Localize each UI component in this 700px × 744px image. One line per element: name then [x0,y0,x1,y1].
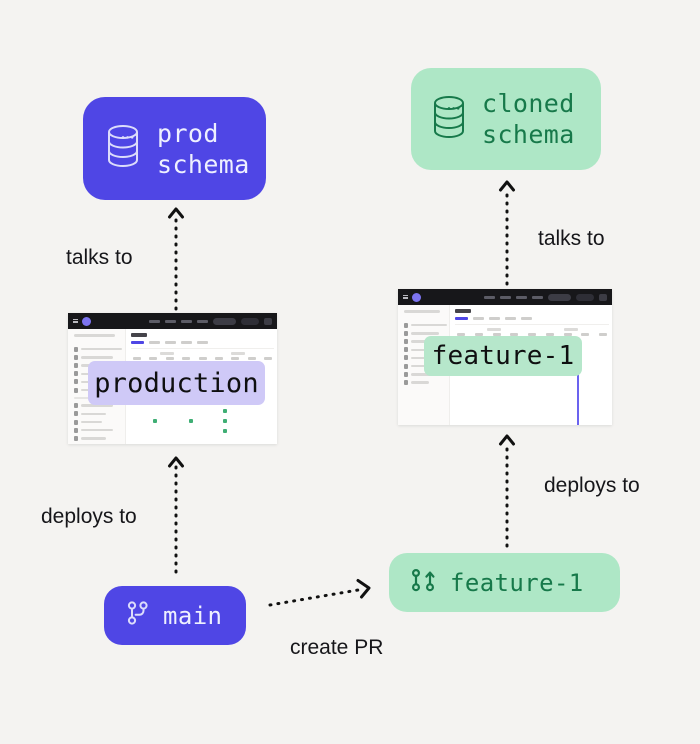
app-logo-icon [412,293,421,302]
production-tag-label: production [94,368,259,399]
git-pull-request-icon [411,567,436,598]
mockup-env-pill [548,294,571,301]
node-prod-schema[interactable]: prod schema [83,97,266,200]
mockup-avatar [599,294,607,301]
arrow-deploys-to-right [497,430,517,548]
node-main-branch-label: main [163,602,222,630]
edge-label-talks-to-right: talks to [538,227,605,251]
production-tag: production [88,361,265,405]
mockup-page-title [455,309,471,313]
node-feature-branch-label: feature-1 [450,569,584,597]
node-prod-schema-label: prod schema [157,118,250,180]
mockup-topnav [484,294,607,301]
hamburger-icon [73,319,78,323]
arrow-talks-to-left [166,203,186,311]
arrow-create-pr [268,578,378,612]
edge-label-deploys-to-right: deploys to [544,474,640,498]
arrow-talks-to-right [497,176,517,286]
hamburger-icon [403,295,408,299]
database-icon [429,94,469,145]
git-branch-icon [126,600,150,631]
feature-tag-label: feature-1 [432,341,575,371]
mockup-env-pill [213,318,236,325]
node-cloned-schema[interactable]: cloned schema [411,68,601,170]
mockup-user-pill [241,318,259,325]
mockup-topbar [68,313,277,329]
mockup-user-pill [576,294,594,301]
feature-tag: feature-1 [424,336,582,376]
diagram-canvas: prod schema cloned schema [0,0,700,744]
mockup-page-title [131,333,147,337]
edge-label-talks-to-left: talks to [66,246,133,270]
mockup-topbar [398,289,612,305]
mockup-tabs [455,317,609,320]
database-icon [103,123,143,174]
mockup-avatar [264,318,272,325]
node-cloned-schema-label: cloned schema [482,88,575,150]
node-feature-branch[interactable]: feature-1 [389,553,620,612]
node-main-branch[interactable]: main [104,586,246,645]
mockup-tabs [131,341,274,344]
app-logo-icon [82,317,91,326]
edge-label-deploys-to-left: deploys to [41,505,137,529]
edge-label-create-pr: create PR [290,636,383,660]
mockup-topnav [149,318,272,325]
arrow-deploys-to-left [166,452,186,574]
